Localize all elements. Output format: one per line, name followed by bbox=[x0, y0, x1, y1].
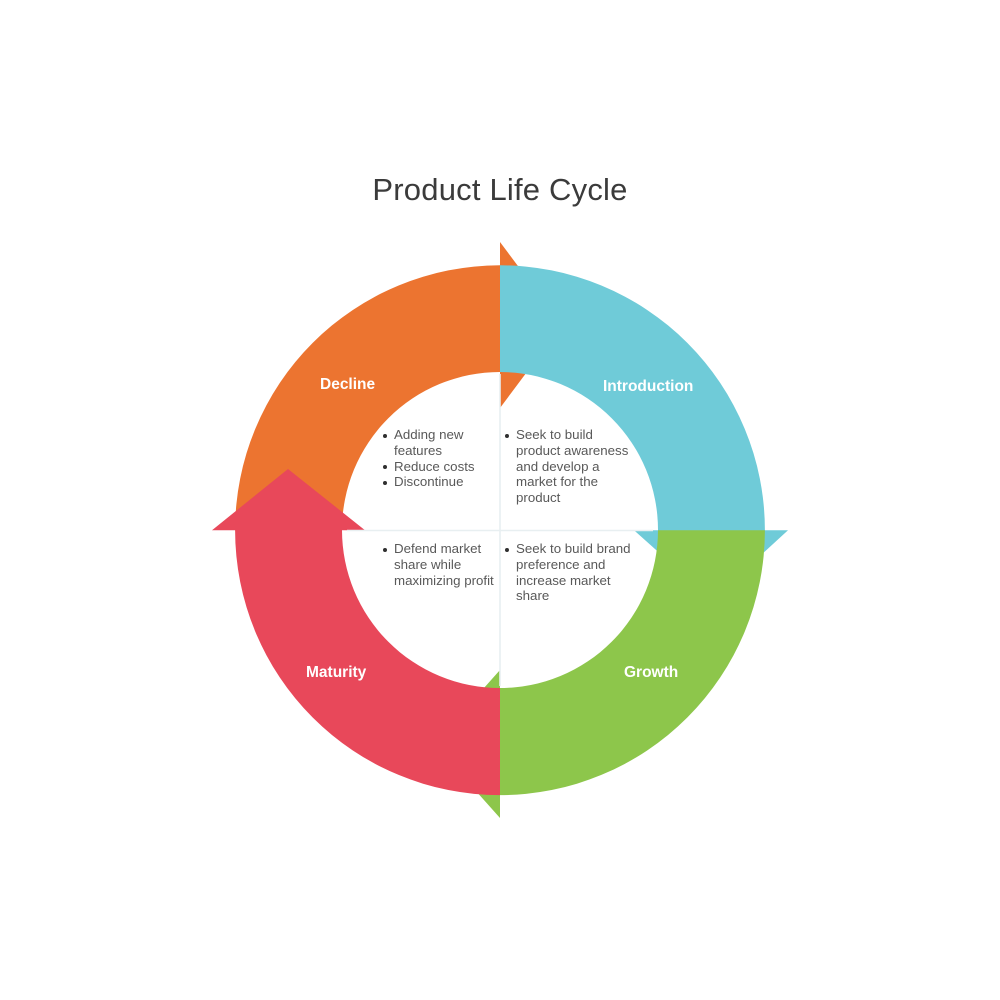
stage-label-growth[interactable]: Growth bbox=[624, 664, 678, 682]
bullets-growth: Seek to build brand preference and incre… bbox=[505, 541, 633, 604]
stage-label-introduction[interactable]: Introduction bbox=[603, 378, 693, 396]
list-item: Seek to build product awareness and deve… bbox=[505, 427, 633, 506]
bullets-introduction: Seek to build product awareness and deve… bbox=[505, 427, 633, 506]
bullets-maturity: Defend market share while maximizing pro… bbox=[383, 541, 498, 588]
stage-label-decline[interactable]: Decline bbox=[320, 376, 375, 394]
list-item: Reduce costs bbox=[383, 459, 493, 475]
list-item: Discontinue bbox=[383, 474, 493, 490]
diagram-canvas: Product Life Cycle Introduction Growth M… bbox=[0, 0, 1000, 1000]
list-item: Defend market share while maximizing pro… bbox=[383, 541, 498, 588]
bullets-decline: Adding new features Reduce costs Discont… bbox=[383, 427, 493, 490]
maturity-arrow-shape[interactable] bbox=[212, 469, 500, 795]
stage-label-maturity[interactable]: Maturity bbox=[306, 664, 366, 682]
list-item: Seek to build brand preference and incre… bbox=[505, 541, 633, 604]
product-life-cycle-ring bbox=[0, 0, 1000, 1000]
list-item: Adding new features bbox=[383, 427, 493, 459]
